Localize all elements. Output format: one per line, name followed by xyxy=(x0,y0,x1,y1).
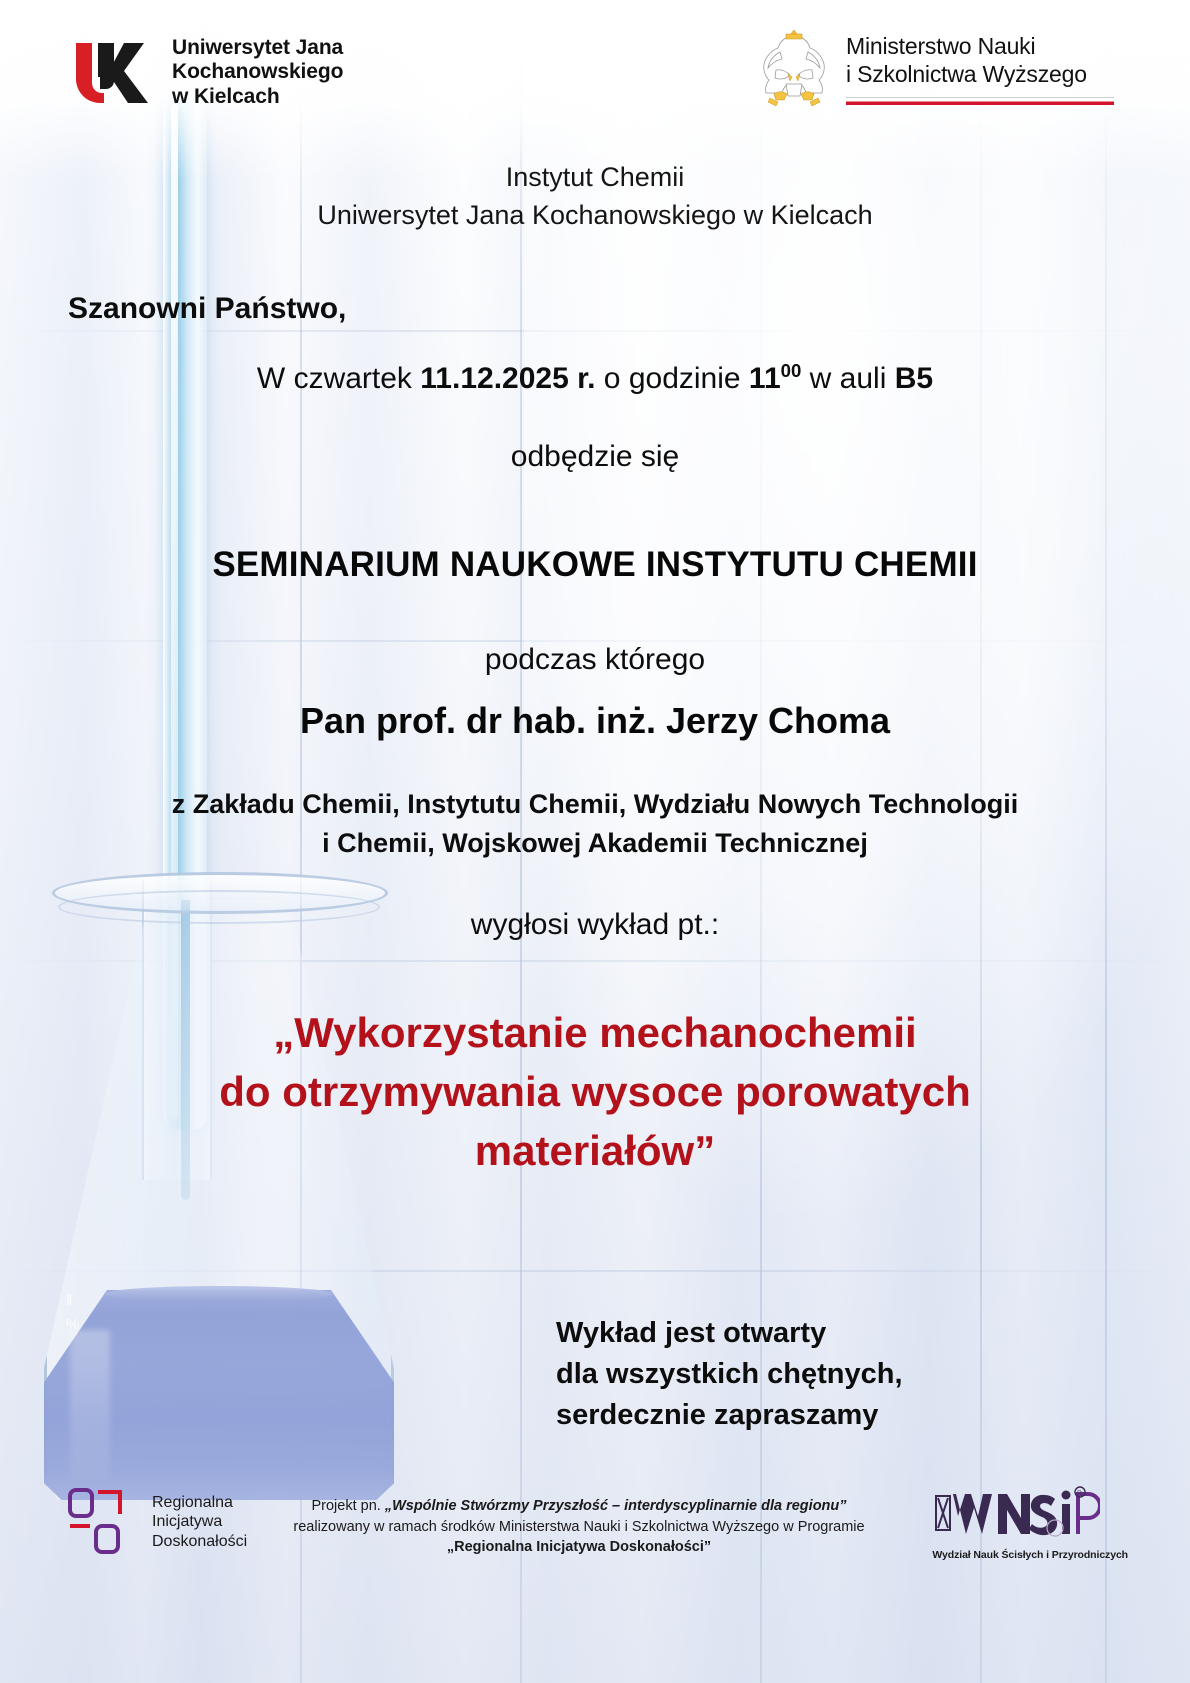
seminar-poster: ‖ % Uniwersytet Jana Kochanowskiego w Ki… xyxy=(0,0,1190,1683)
faculty-caption: Wydział Nauk Ścisłych i Przyrodniczych xyxy=(932,1549,1128,1561)
project-note-line2: realizowany w ramach środków Ministerstw… xyxy=(293,1519,864,1535)
faculty-logo: R Wydział Nauk Ścisłych i Przyrodniczych xyxy=(932,1484,1128,1561)
date-time-line: W czwartek 11.12.2025 r. o godzinie 1100… xyxy=(0,362,1190,396)
ministry-name: Ministerstwo Nauki i Szkolnictwa Wyższeg… xyxy=(846,32,1114,88)
project-note-prefix: Projekt pn. xyxy=(311,1498,384,1514)
will-give-lecture-text: wygłosi wykład pt.: xyxy=(0,908,1190,942)
event-date: 11.12.2025 r. xyxy=(420,362,595,395)
dateline-middle: o godzinie xyxy=(595,362,748,395)
dateline-prefix: W czwartek xyxy=(257,362,420,395)
event-venue: B5 xyxy=(895,362,933,395)
rid-name: Regionalna Inicjatywa Doskonałości xyxy=(152,1493,247,1552)
event-hour: 11 xyxy=(749,362,781,395)
ujk-monogram-icon xyxy=(72,41,158,105)
speaker-name: Pan prof. dr hab. inż. Jerzy Choma xyxy=(0,700,1190,742)
speaker-affiliation: z Zakładu Chemii, Instytutu Chemii, Wydz… xyxy=(0,785,1190,864)
polish-eagle-icon xyxy=(756,26,832,114)
during-which-text: podczas którego xyxy=(0,643,1190,677)
salutation: Szanowni Państwo, xyxy=(68,292,346,326)
university-name: Uniwersytet Jana Kochanowskiego w Kielca… xyxy=(172,36,343,109)
lecture-title: „Wykorzystanie mechanochemii do otrzymyw… xyxy=(0,1004,1190,1180)
institute-header: Instytut Chemii Uniwersytet Jana Kochano… xyxy=(0,158,1190,235)
will-happen-text: odbędzie się xyxy=(0,440,1190,474)
event-hour-minutes: 00 xyxy=(781,360,802,381)
dateline-venue-prefix: w auli xyxy=(801,362,894,395)
project-programme-name: „Regionalna Inicjatywa Doskonałości” xyxy=(447,1539,711,1555)
rid-squares-icon xyxy=(66,1486,142,1558)
ministry-flag-bar xyxy=(846,97,1114,105)
wnsip-wordmark-icon: R xyxy=(932,1484,1100,1546)
rid-logo: Regionalna Inicjatywa Doskonałości xyxy=(66,1486,247,1558)
project-name: „Wspólnie Stwórzmy Przyszłość – interdys… xyxy=(385,1498,847,1514)
seminar-headline: SEMINARIUM NAUKOWE INSTYTUTU CHEMII xyxy=(0,545,1190,585)
project-funding-note: Projekt pn. „Wspólnie Stwórzmy Przyszłoś… xyxy=(268,1496,890,1558)
svg-text:R: R xyxy=(1077,1491,1082,1498)
ministry-logo: Ministerstwo Nauki i Szkolnictwa Wyższeg… xyxy=(756,26,1114,114)
invitation-text: Wykład jest otwarty dla wszystkich chętn… xyxy=(556,1313,903,1437)
university-logo: Uniwersytet Jana Kochanowskiego w Kielca… xyxy=(72,36,343,109)
